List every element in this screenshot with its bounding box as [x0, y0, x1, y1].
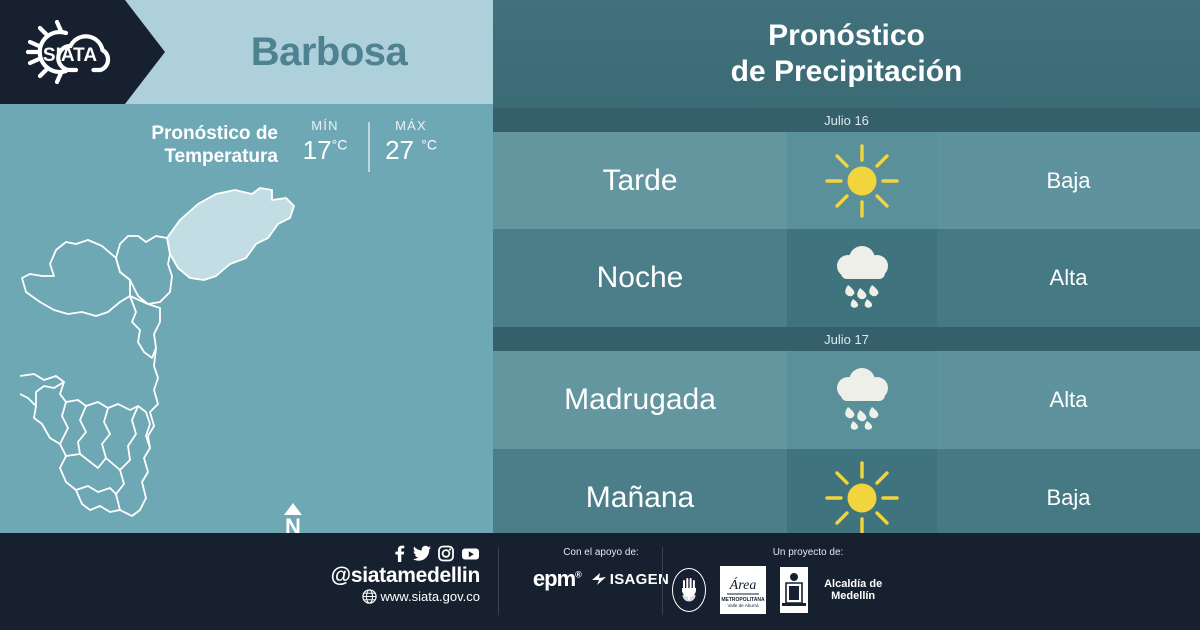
- forecast-probability: Alta: [937, 351, 1200, 449]
- forecast-period-label: Noche: [493, 229, 787, 327]
- udea-seal-logo: [672, 568, 706, 612]
- globe-icon: [362, 589, 377, 604]
- map-region-barbosa: [167, 188, 294, 280]
- temperature-values: MÍN 17°C MÁX 27 °C: [288, 118, 468, 180]
- amva-script-text: Área: [729, 576, 757, 593]
- aburra-valley-map-svg: [20, 180, 360, 533]
- municipality-map: N: [0, 180, 493, 533]
- alcaldia-label: Alcaldía de Medellín: [814, 578, 892, 602]
- temperature-title: Pronóstico de Temperatura: [78, 122, 278, 168]
- temperature-max-value: 27 °C: [374, 135, 448, 166]
- temperature-divider: [368, 122, 370, 172]
- temperature-max-label: MÁX: [374, 118, 448, 133]
- youtube-icon[interactable]: [461, 545, 480, 562]
- date-band-day2: Julio 17: [493, 327, 1200, 351]
- infographic-root: SIATA Barbosa Pronóstico de Temperatura …: [0, 0, 1200, 630]
- support-logos: epm® ISAGEN: [516, 566, 686, 592]
- isagen-logo: ISAGEN: [591, 571, 669, 588]
- isagen-text: ISAGEN: [610, 571, 669, 588]
- alcaldia-logo: Alcaldía de Medellín: [780, 567, 892, 613]
- social-icons: [330, 545, 480, 562]
- twitter-icon[interactable]: [413, 545, 431, 562]
- date-band-day1: Julio 16: [493, 108, 1200, 132]
- instagram-icon[interactable]: [438, 545, 454, 562]
- temperature-max-unit: °C: [421, 136, 437, 152]
- page-title: Barbosa: [165, 0, 493, 104]
- area-metropolitana-logo: Área METROPOLITANA Valle de Aburrá: [720, 566, 766, 614]
- temperature-max-number: 27: [385, 135, 414, 165]
- support-block: Con el apoyo de: epm® ISAGEN: [516, 547, 686, 592]
- temperature-min: MÍN 17°C: [288, 118, 362, 166]
- project-caption: Un proyecto de:: [724, 547, 892, 558]
- forecast-period-label: Tarde: [493, 132, 787, 230]
- forecast-period-label: Madrugada: [493, 351, 787, 449]
- temperature-min-number: 17: [303, 135, 332, 165]
- precipitation-panel: Pronóstico de Precipitación Julio 16 Tar…: [493, 0, 1200, 533]
- footer: @siatamedellin www.siata.gov.co Con el a…: [0, 533, 1200, 630]
- support-caption: Con el apoyo de:: [516, 547, 686, 558]
- rain-cloud-icon: [787, 229, 937, 327]
- social-block: @siatamedellin www.siata.gov.co: [330, 545, 480, 605]
- forecast-probability: Alta: [937, 229, 1200, 327]
- temperature-min-label: MÍN: [288, 118, 362, 133]
- epm-logo: epm®: [533, 566, 581, 592]
- precipitation-title-line2: de Precipitación: [731, 54, 963, 90]
- amva-line3-text: Valle de Aburrá: [728, 603, 760, 608]
- forecast-row: Tarde Baja: [493, 132, 1200, 230]
- temperature-block: Pronóstico de Temperatura MÍN 17°C MÁX 2…: [0, 112, 493, 180]
- rain-cloud-icon: [787, 351, 937, 449]
- facebook-icon[interactable]: [392, 545, 406, 562]
- alcaldia-emblem: [780, 567, 808, 613]
- forecast-row: Noche Alta: [493, 229, 1200, 327]
- precipitation-title-line1: Pronóstico: [768, 18, 925, 54]
- temperature-max: MÁX 27 °C: [374, 118, 448, 166]
- isagen-mark-icon: [591, 572, 607, 586]
- left-panel: SIATA Barbosa Pronóstico de Temperatura …: [0, 0, 493, 533]
- siata-logo-text: SIATA: [43, 45, 97, 66]
- project-block: Un proyecto de:: [672, 547, 892, 614]
- forecast-row: Madrugada Alta: [493, 351, 1200, 449]
- temperature-title-line2: Temperatura: [164, 146, 278, 167]
- siata-logo-icon: SIATA: [14, 14, 124, 90]
- precipitation-title: Pronóstico de Precipitación: [493, 0, 1200, 108]
- temperature-min-unit: °C: [332, 136, 348, 152]
- website-link[interactable]: www.siata.gov.co: [330, 588, 480, 605]
- sun-icon: [787, 132, 937, 230]
- project-logos: Área METROPOLITANA Valle de Aburrá: [672, 566, 892, 614]
- footer-divider: [498, 547, 499, 615]
- footer-divider: [662, 547, 663, 615]
- temperature-title-line1: Pronóstico de: [151, 123, 278, 144]
- website-text: www.siata.gov.co: [381, 588, 480, 605]
- social-handle[interactable]: @siatamedellin: [330, 564, 480, 588]
- forecast-probability: Baja: [937, 132, 1200, 230]
- temperature-min-value: 17°C: [288, 135, 362, 166]
